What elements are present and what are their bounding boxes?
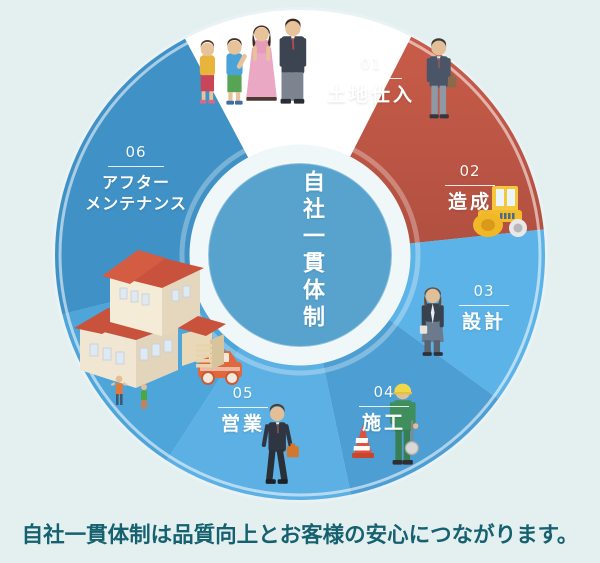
- segment-dividers: [548, 212, 566, 246]
- infographic-stage: 01 土地仕入 02 造成 03 設計 04 施工 05 営業 06 アフター …: [0, 0, 600, 563]
- caption-text: 自社一貫体制は品質向上とお客様の安心につながります。: [0, 518, 600, 549]
- process-wheel: [0, 0, 600, 510]
